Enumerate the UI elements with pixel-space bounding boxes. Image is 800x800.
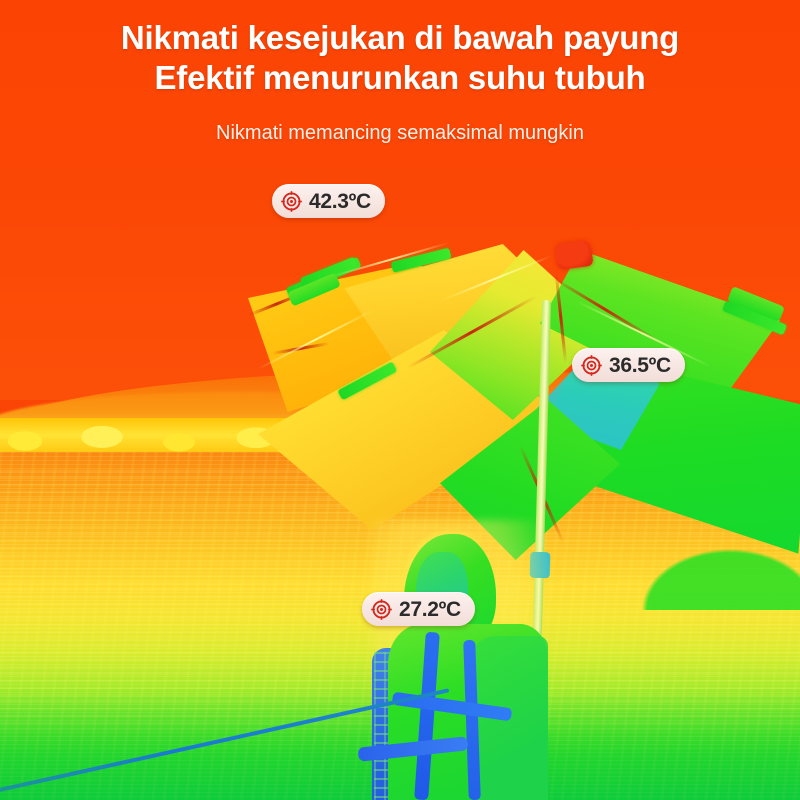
temperature-badge-canopy: 36.5ºC bbox=[572, 348, 685, 382]
temperature-badge-ambient: 42.3ºC bbox=[272, 184, 385, 218]
temperature-value: 27.2ºC bbox=[399, 599, 461, 620]
headline-line-2: Efektif menurunkan suhu tubuh bbox=[0, 58, 800, 98]
temperature-value: 42.3ºC bbox=[309, 191, 371, 212]
crosshair-target-icon bbox=[281, 191, 302, 212]
page-subtitle: Nikmati memancing semaksimal mungkin bbox=[0, 120, 800, 146]
temperature-badge-person: 27.2ºC bbox=[362, 592, 475, 626]
page-title: Nikmati kesejukan di bawah payung Efekti… bbox=[0, 18, 800, 98]
headline-line-1: Nikmati kesejukan di bawah payung bbox=[121, 19, 679, 56]
crosshair-target-icon bbox=[581, 355, 602, 376]
crosshair-target-icon bbox=[371, 599, 392, 620]
promo-image-canvas: Nikmati kesejukan di bawah payung Efekti… bbox=[0, 0, 800, 800]
temperature-value: 36.5ºC bbox=[609, 355, 671, 376]
